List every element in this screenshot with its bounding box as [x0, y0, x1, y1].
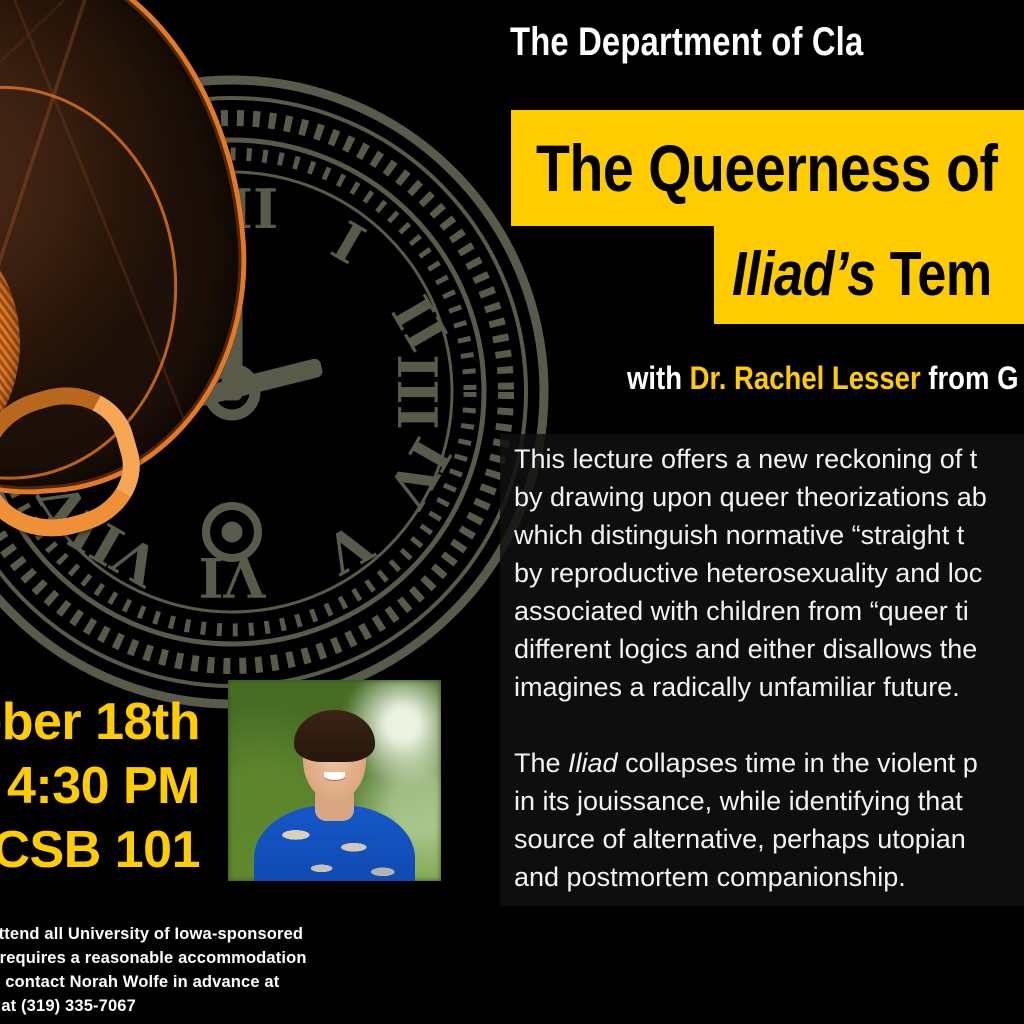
clock-background-graphic: XII I II III IV V VI VII VIII IX X XI [0, 72, 552, 712]
kylix-rim [0, 0, 262, 508]
event-details-block: ober 18th 4:30 PM BCSB 101 [0, 690, 200, 882]
abstract-paragraph-2: The Iliad collapses time in the violent … [514, 744, 1024, 896]
svg-text:V: V [313, 510, 383, 587]
abstract-p2-l2: in its jouissance, while identifying tha… [514, 786, 963, 816]
title-line-2-rest: Tem [876, 240, 992, 309]
abstract-p2-work-name: Iliad [568, 748, 618, 778]
kylix-handle [0, 370, 155, 556]
svg-text:VII: VII [59, 497, 172, 599]
abstract-p1-l1: This lecture offers a new reckoning of t [514, 444, 977, 474]
svg-text:I: I [322, 209, 376, 277]
abstract-paragraph-1: This lecture offers a new reckoning of t… [514, 440, 1024, 706]
abstract-p1-l5: associated with children from “queer ti [514, 596, 969, 626]
abstract-p1-l7: imagines a radically unfamiliar future. [514, 672, 960, 702]
footer-line-4: owa.edu or at (319) 335-7067 [0, 994, 548, 1018]
svg-text:IX: IX [15, 358, 79, 425]
abstract-p1-l6: different logics and either disallows th… [514, 634, 977, 664]
kylix-inner-ring [0, 74, 190, 492]
kylix-bowl [0, 0, 262, 508]
abstract-panel: This lecture offers a new reckoning of t… [500, 434, 1024, 906]
footer-line-1: uraged to attend all University of Iowa-… [0, 922, 548, 946]
title-work-name: Iliad’s [732, 240, 876, 309]
abstract-p1-l3: which distinguish normative “straight t [514, 520, 964, 550]
kylix-cracks [0, 0, 262, 508]
abstract-p2-l4: and postmortem companionship. [514, 862, 906, 892]
abstract-p2-l3: source of alternative, perhaps utopian [514, 824, 966, 854]
event-date: ober 18th [0, 690, 200, 754]
event-poster: XII I II III IV V VI VII VIII IX X XI [0, 0, 1024, 1024]
title-band-line-1: The Queerness of [511, 110, 1024, 226]
event-time: 4:30 PM [0, 754, 200, 818]
abstract-p2-pre: The [514, 748, 568, 778]
title-line-2-text: Iliad’s Tem [732, 244, 992, 306]
abstract-p2-l1: collapses time in the violent p [618, 748, 978, 778]
abstract-p1-l4: by reproductive heterosexuality and loc [514, 558, 982, 588]
abstract-p1-l2: by drawing upon queer theorizations ab [514, 482, 987, 512]
svg-text:XI: XI [69, 198, 159, 287]
svg-text:X: X [7, 289, 83, 357]
event-location: BCSB 101 [0, 818, 200, 882]
svg-text:VI: VI [198, 545, 266, 609]
accessibility-footer: uraged to attend all University of Iowa-… [0, 922, 548, 1018]
speaker-affiliation: from G [921, 360, 1019, 396]
title-line-1-text: The Queerness of [536, 135, 998, 201]
svg-text:IV: IV [374, 427, 464, 518]
svg-text:II: II [379, 286, 460, 362]
footer-line-2: ability who requires a reasonable accomm… [0, 946, 548, 970]
svg-text:VIII: VIII [0, 405, 102, 540]
svg-text:III: III [385, 354, 449, 430]
speaker-line: with Dr. Rachel Lesser from G [627, 360, 1019, 397]
speaker-headshot-photo [228, 680, 441, 881]
department-heading: The Department of Cla [510, 20, 1024, 65]
speaker-prefix: with [627, 360, 690, 396]
greek-kylix-vessel-image [0, 0, 244, 594]
title-band-line-2: Iliad’s Tem [714, 226, 1024, 324]
kylix-tondo-figure [0, 193, 29, 492]
footer-line-3: ram, please contact Norah Wolfe in advan… [0, 970, 548, 994]
svg-text:XII: XII [186, 177, 278, 241]
speaker-name: Dr. Rachel Lesser [690, 360, 921, 396]
